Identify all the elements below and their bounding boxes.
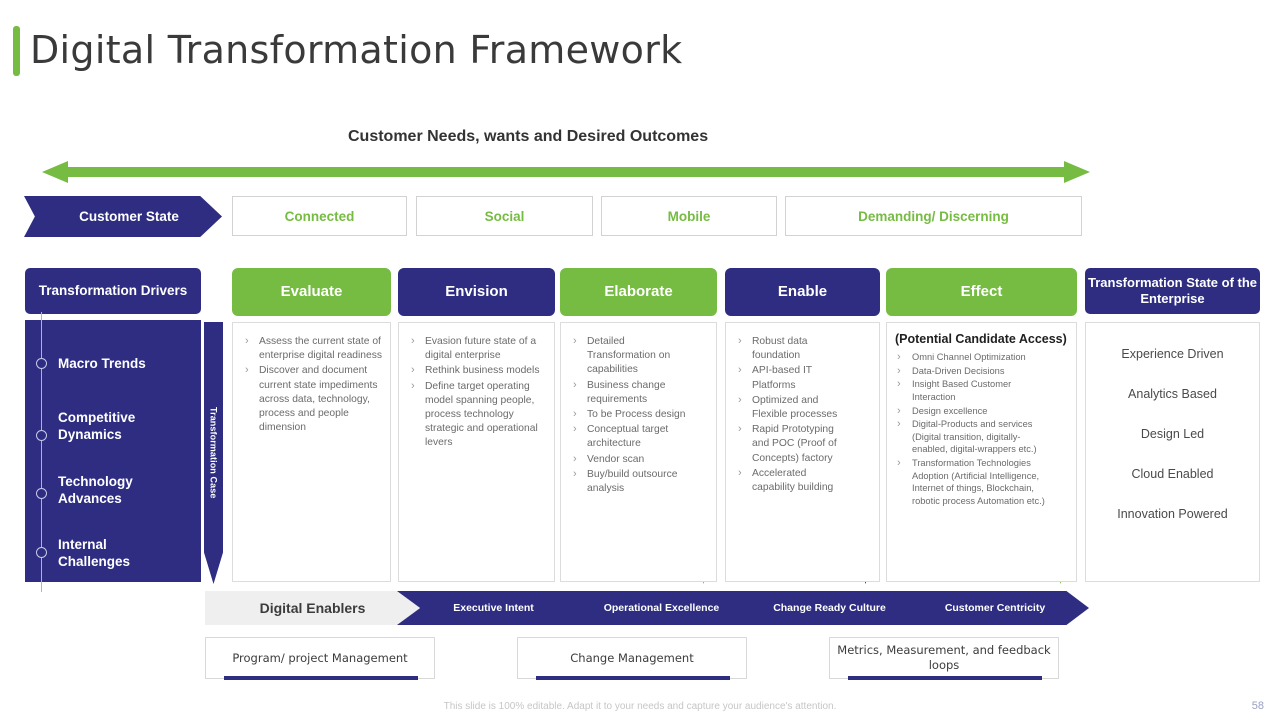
bullet-item: Buy/build outsource analysis	[571, 468, 686, 496]
phase-body-enable: Robust data foundation API-based IT Plat…	[725, 322, 880, 582]
timeline-dot	[36, 488, 47, 499]
transformation-state-item: Innovation Powered	[1086, 507, 1259, 521]
phase-body-envision: Evasion future state of a digital enterp…	[398, 322, 555, 582]
phase-title: Evaluate	[281, 283, 343, 301]
phase-title: Effect	[961, 283, 1003, 301]
bullet-item: Transformation Technologies Adoption (Ar…	[895, 457, 1052, 508]
transformation-drivers-header: Transformation Drivers	[25, 268, 201, 314]
bullet-item: Conceptual target architecture	[571, 423, 686, 451]
bottom-box-label: Program/ project Management	[232, 651, 407, 666]
bottom-box-underline	[224, 676, 418, 680]
phase-title: Elaborate	[604, 283, 672, 301]
phase-bullet-list: Omni Channel Optimization Data-Driven De…	[887, 349, 1076, 508]
customer-needs-heading: Customer Needs, wants and Desired Outcom…	[348, 128, 708, 146]
page-title: Digital Transformation Framework	[30, 28, 682, 72]
state-label: Demanding/ Discerning	[858, 209, 1009, 224]
customer-state-chevron[interactable]: Customer State	[24, 196, 222, 237]
transformation-state-panel: Experience Driven Analytics Based Design…	[1085, 322, 1260, 582]
bullet-item: Vendor scan	[571, 453, 686, 467]
bottom-box-underline	[536, 676, 730, 680]
phase-bullet-list: Robust data foundation API-based IT Plat…	[726, 323, 879, 495]
phase-header-elaborate[interactable]: Elaborate	[560, 268, 717, 316]
effect-subtitle: (Potential Candidate Access)	[895, 332, 1076, 347]
page-number: 58	[1252, 700, 1264, 712]
phase-header-evaluate[interactable]: Evaluate	[232, 268, 391, 316]
bullet-item: Omni Channel Optimization	[895, 351, 1052, 364]
state-label: Connected	[285, 209, 355, 224]
phase-body-elaborate: Detailed Transformation on capabilities …	[560, 322, 717, 582]
enabler-step-label: Customer Centricity	[945, 602, 1045, 615]
state-label: Social	[485, 209, 525, 224]
bullet-item: Accelerated capability building	[736, 467, 851, 495]
state-label: Mobile	[668, 209, 711, 224]
digital-enablers-text: Digital Enablers	[260, 600, 366, 616]
driver-item-macro-trends[interactable]: Macro Trends	[58, 355, 146, 372]
drivers-heading-text: Transformation Drivers	[39, 283, 188, 300]
phase-bullet-list: Detailed Transformation on capabilities …	[561, 323, 716, 496]
bottom-box-label: Change Management	[570, 651, 693, 666]
driver-item-competitive-dynamics[interactable]: Competitive Dynamics	[58, 409, 178, 444]
customer-state-label: Customer State	[67, 209, 179, 224]
transformation-state-item: Analytics Based	[1086, 387, 1259, 401]
bullet-item: Robust data foundation	[736, 335, 851, 363]
phase-body-evaluate: Assess the current state of enterprise d…	[232, 322, 391, 582]
bullet-item: Insight Based Customer Interaction	[895, 378, 1052, 403]
enabler-step-change-ready-culture[interactable]: Change Ready Culture	[733, 591, 926, 625]
vertical-arrow-transformation-case: Transformation Case	[204, 322, 223, 584]
slide-root: Digital Transformation Framework Custome…	[0, 0, 1280, 720]
bullet-item: Rethink business models	[409, 364, 548, 378]
bullet-item: To be Process design	[571, 408, 686, 422]
bullet-item: Detailed Transformation on capabilities	[571, 335, 686, 378]
enabler-step-operational-excellence[interactable]: Operational Excellence	[565, 591, 758, 625]
customer-state-box-social[interactable]: Social	[416, 196, 593, 236]
timeline-dot	[36, 547, 47, 558]
bottom-box-underline	[848, 676, 1042, 680]
bullet-item: Rapid Prototyping and POC (Proof of Conc…	[736, 423, 851, 466]
enabler-step-executive-intent[interactable]: Executive Intent	[397, 591, 590, 625]
bullet-item: Discover and document current state impe…	[243, 364, 384, 435]
bullet-item: Evasion future state of a digital enterp…	[409, 335, 548, 363]
customer-state-box-mobile[interactable]: Mobile	[601, 196, 777, 236]
title-accent-bar	[13, 26, 20, 76]
bottom-box-label: Metrics, Measurement, and feedback loops	[830, 643, 1058, 672]
bullet-item: API-based IT Platforms	[736, 364, 851, 392]
footer-note: This slide is 100% editable. Adapt it to…	[0, 701, 1280, 712]
customer-state-box-demanding[interactable]: Demanding/ Discerning	[785, 196, 1082, 236]
bullet-item: Digital-Products and services (Digital t…	[895, 418, 1052, 456]
bullet-item: Optimized and Flexible processes	[736, 394, 851, 422]
phase-title: Envision	[445, 283, 508, 301]
bullet-item: Business change requirements	[571, 379, 686, 407]
timeline-dot	[36, 358, 47, 369]
digital-enablers-label: Digital Enablers	[205, 591, 420, 625]
bullet-item: Design excellence	[895, 405, 1052, 418]
bullet-item: Data-Driven Decisions	[895, 365, 1052, 378]
bottom-box-metrics[interactable]: Metrics, Measurement, and feedback loops	[829, 637, 1059, 679]
bottom-box-change-management[interactable]: Change Management	[517, 637, 747, 679]
enabler-step-customer-centricity[interactable]: Customer Centricity	[901, 591, 1089, 625]
bullet-item: Define target operating model spanning p…	[409, 380, 548, 451]
bottom-box-program-management[interactable]: Program/ project Management	[205, 637, 435, 679]
driver-item-internal-challenges[interactable]: Internal Challenges	[58, 536, 178, 571]
double-arrow-graphic	[42, 160, 1090, 184]
phase-header-envision[interactable]: Envision	[398, 268, 555, 316]
enabler-step-label: Executive Intent	[453, 602, 534, 615]
transformation-state-header: Transformation State of the Enterprise	[1085, 268, 1260, 314]
enabler-step-label: Change Ready Culture	[773, 602, 886, 615]
timeline-dot	[36, 430, 47, 441]
phase-title: Enable	[778, 283, 827, 301]
enabler-step-label: Operational Excellence	[604, 602, 720, 615]
bullet-item: Assess the current state of enterprise d…	[243, 335, 384, 363]
phase-header-enable[interactable]: Enable	[725, 268, 880, 316]
driver-item-technology-advances[interactable]: Technology Advances	[58, 473, 178, 508]
phase-header-effect[interactable]: Effect	[886, 268, 1077, 316]
transformation-state-item: Cloud Enabled	[1086, 467, 1259, 481]
phase-body-effect: (Potential Candidate Access) Omni Channe…	[886, 322, 1077, 582]
customer-state-box-connected[interactable]: Connected	[232, 196, 407, 236]
transformation-state-item: Experience Driven	[1086, 347, 1259, 361]
phase-bullet-list: Assess the current state of enterprise d…	[233, 323, 390, 435]
vertical-arrow-label: Transformation Case	[209, 407, 219, 498]
transformation-state-item: Design Led	[1086, 427, 1259, 441]
transformation-state-title: Transformation State of the Enterprise	[1085, 275, 1260, 308]
phase-bullet-list: Evasion future state of a digital enterp…	[399, 323, 554, 451]
